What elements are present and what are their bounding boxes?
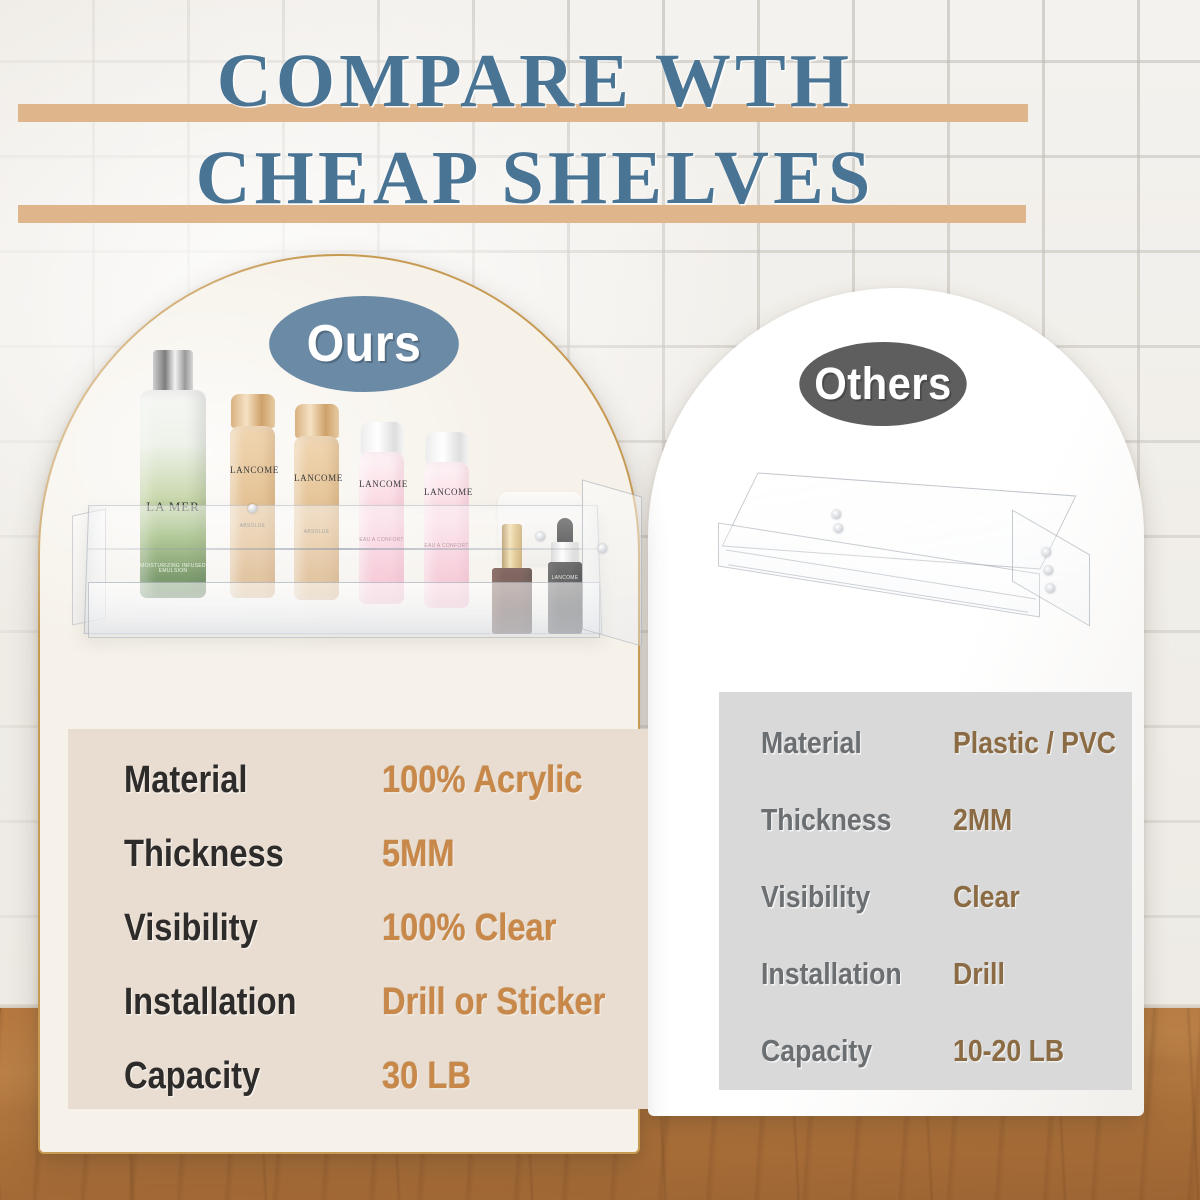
ours-shelf-screw-1 (248, 504, 257, 513)
others-badge: Others (799, 342, 966, 426)
ours-shelf-front-lip (88, 582, 600, 638)
infographic-canvas: COMPARE WTH CHEAP SHELVES Others Materia… (0, 0, 1200, 1200)
ours-spec-row-4: Capacity 30 LB (68, 1053, 648, 1099)
others-spec-row-0: Material Plastic / PVC (719, 722, 1132, 762)
ours-shelf-screw-3 (598, 544, 607, 553)
ours-spec-value-3: Drill or Sticker (382, 983, 605, 1021)
others-spec-value-1: 2MM (953, 804, 1012, 835)
ours-spec-row-1: Thickness 5MM (68, 831, 648, 877)
others-shelf-screw-2 (834, 524, 843, 533)
lancome-gold-2-brand-label: LANCOME (294, 474, 339, 483)
ours-spec-value-1: 5MM (382, 835, 455, 873)
others-spec-row-3: Installation Drill (719, 953, 1132, 993)
ours-spec-label-2: Visibility (124, 909, 258, 947)
lancome-gold-1-cap (231, 394, 275, 428)
page-title-line-1: COMPARE WTH (0, 43, 1070, 119)
others-spec-value-0: Plastic / PVC (953, 727, 1116, 758)
lancome-pink-2-brand-label: LANCOME (424, 488, 469, 497)
lancome-pink-2-cap (425, 432, 468, 464)
la-mer-cap (153, 350, 193, 392)
others-badge-label: Others (814, 358, 951, 410)
page-title-line-2: CHEAP SHELVES (0, 140, 1070, 216)
lancome-gold-2-cap (295, 404, 339, 438)
lancome-pink-1-brand-label: LANCOME (359, 480, 404, 489)
ours-spec-label-1: Thickness (124, 835, 284, 873)
ours-spec-panel: Material 100% Acrylic Thickness 5MM Visi… (68, 729, 648, 1109)
others-spec-label-3: Installation (761, 958, 902, 989)
ours-shelf-photo: LA MER MOISTURIZING INFUSED EMULSION LAN… (62, 336, 642, 716)
others-shelf-screw-3 (1042, 548, 1051, 557)
others-spec-value-4: 10-20 LB (953, 1035, 1064, 1066)
ours-spec-value-2: 100% Clear (382, 909, 556, 947)
ours-spec-label-3: Installation (124, 983, 296, 1021)
others-spec-value-3: Drill (953, 958, 1005, 989)
ours-shelf-right-end (582, 479, 642, 646)
ours-spec-row-0: Material 100% Acrylic (68, 757, 648, 803)
others-shelf-photo (712, 470, 1120, 630)
others-spec-value-2: Clear (953, 881, 1020, 912)
others-shelf-screw-5 (1046, 584, 1055, 593)
ours-shelf-inner-edge (88, 548, 598, 550)
ours-spec-label-0: Material (124, 761, 248, 799)
others-spec-label-0: Material (761, 727, 862, 758)
others-shelf-screw-4 (1044, 566, 1053, 575)
others-spec-row-2: Visibility Clear (719, 876, 1132, 916)
others-spec-label-4: Capacity (761, 1035, 872, 1066)
others-spec-label-1: Thickness (761, 804, 891, 835)
others-spec-label-2: Visibility (761, 881, 870, 912)
ours-spec-value-0: 100% Acrylic (382, 761, 582, 799)
ours-shelf-screw-2 (536, 532, 545, 541)
ours-spec-value-4: 30 LB (382, 1057, 471, 1095)
ours-spec-row-2: Visibility 100% Clear (68, 905, 648, 951)
ours-spec-label-4: Capacity (124, 1057, 260, 1095)
lancome-pink-1-cap (360, 422, 403, 454)
others-spec-row-1: Thickness 2MM (719, 799, 1132, 839)
others-shelf-screw-1 (832, 510, 841, 519)
others-spec-row-4: Capacity 10-20 LB (719, 1030, 1132, 1070)
ours-spec-row-3: Installation Drill or Sticker (68, 979, 648, 1025)
lancome-gold-1-brand-label: LANCOME (230, 466, 275, 475)
others-spec-panel: Material Plastic / PVC Thickness 2MM Vis… (719, 692, 1132, 1090)
